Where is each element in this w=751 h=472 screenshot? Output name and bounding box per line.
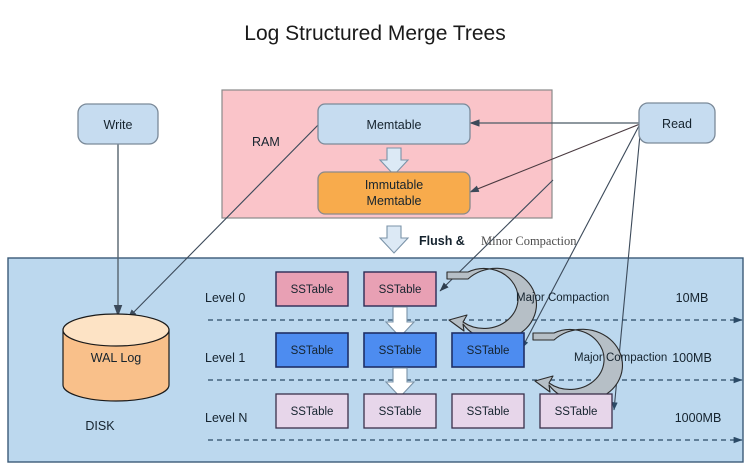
level-n-sstable-3[interactable]: SSTable — [452, 394, 524, 428]
level-1-name: Level 1 — [205, 351, 245, 365]
sstable-label: SSTable — [555, 406, 598, 418]
immutable-memtable-label-1: Immutable — [365, 178, 423, 192]
wal-log-label: WAL Log — [91, 351, 142, 365]
level-0-name: Level 0 — [205, 291, 245, 305]
sstable-label: SSTable — [467, 406, 510, 418]
level-n-sstable-2[interactable]: SSTable — [364, 394, 436, 428]
level-1-sstable-1[interactable]: SSTable — [276, 333, 348, 367]
sstable-label: SSTable — [291, 345, 334, 357]
level-n-name: Level N — [205, 411, 247, 425]
sstable-label: SSTable — [379, 345, 422, 357]
wal-log-node[interactable]: WAL Log — [63, 314, 169, 401]
flush-label-bold: Flush & — [419, 234, 465, 248]
sstable-label: SSTable — [291, 284, 334, 296]
major-compaction-label-1: Major Compaction — [516, 292, 609, 304]
sstable-label: SSTable — [379, 284, 422, 296]
immutable-memtable-node[interactable]: Immutable Memtable — [318, 172, 470, 214]
level-1-sstable-2[interactable]: SSTable — [364, 333, 436, 367]
page-title: Log Structured Merge Trees — [244, 22, 505, 45]
level-0-size: 10MB — [676, 291, 709, 305]
level-1-size: 100MB — [672, 351, 712, 365]
write-node[interactable]: Write — [78, 104, 158, 144]
sstable-label: SSTable — [467, 345, 510, 357]
level-n-sstable-1[interactable]: SSTable — [276, 394, 348, 428]
level-1-sstable-3[interactable]: SSTable — [452, 333, 524, 367]
level-0-sstable-2[interactable]: SSTable — [364, 272, 436, 306]
write-label: Write — [104, 118, 133, 132]
major-compaction-label-2: Major Compaction — [574, 352, 667, 364]
flush-label-serif: Minor Compaction — [481, 234, 577, 248]
disk-label: DISK — [85, 419, 115, 433]
memtable-node[interactable]: Memtable — [318, 104, 470, 144]
level-n-sstable-4[interactable]: SSTable — [540, 394, 612, 428]
immutable-memtable-label-2: Memtable — [367, 194, 422, 208]
level-0-sstable-1[interactable]: SSTable — [276, 272, 348, 306]
ram-label: RAM — [252, 135, 280, 149]
level-n-size: 1000MB — [675, 411, 722, 425]
diagram-canvas: Log Structured Merge Trees RAM Write Rea… — [0, 0, 751, 472]
sstable-label: SSTable — [379, 406, 422, 418]
memtable-label: Memtable — [367, 118, 422, 132]
flush-block-arrow — [380, 226, 408, 253]
read-label: Read — [662, 117, 692, 131]
read-node[interactable]: Read — [639, 103, 715, 143]
sstable-label: SSTable — [291, 406, 334, 418]
